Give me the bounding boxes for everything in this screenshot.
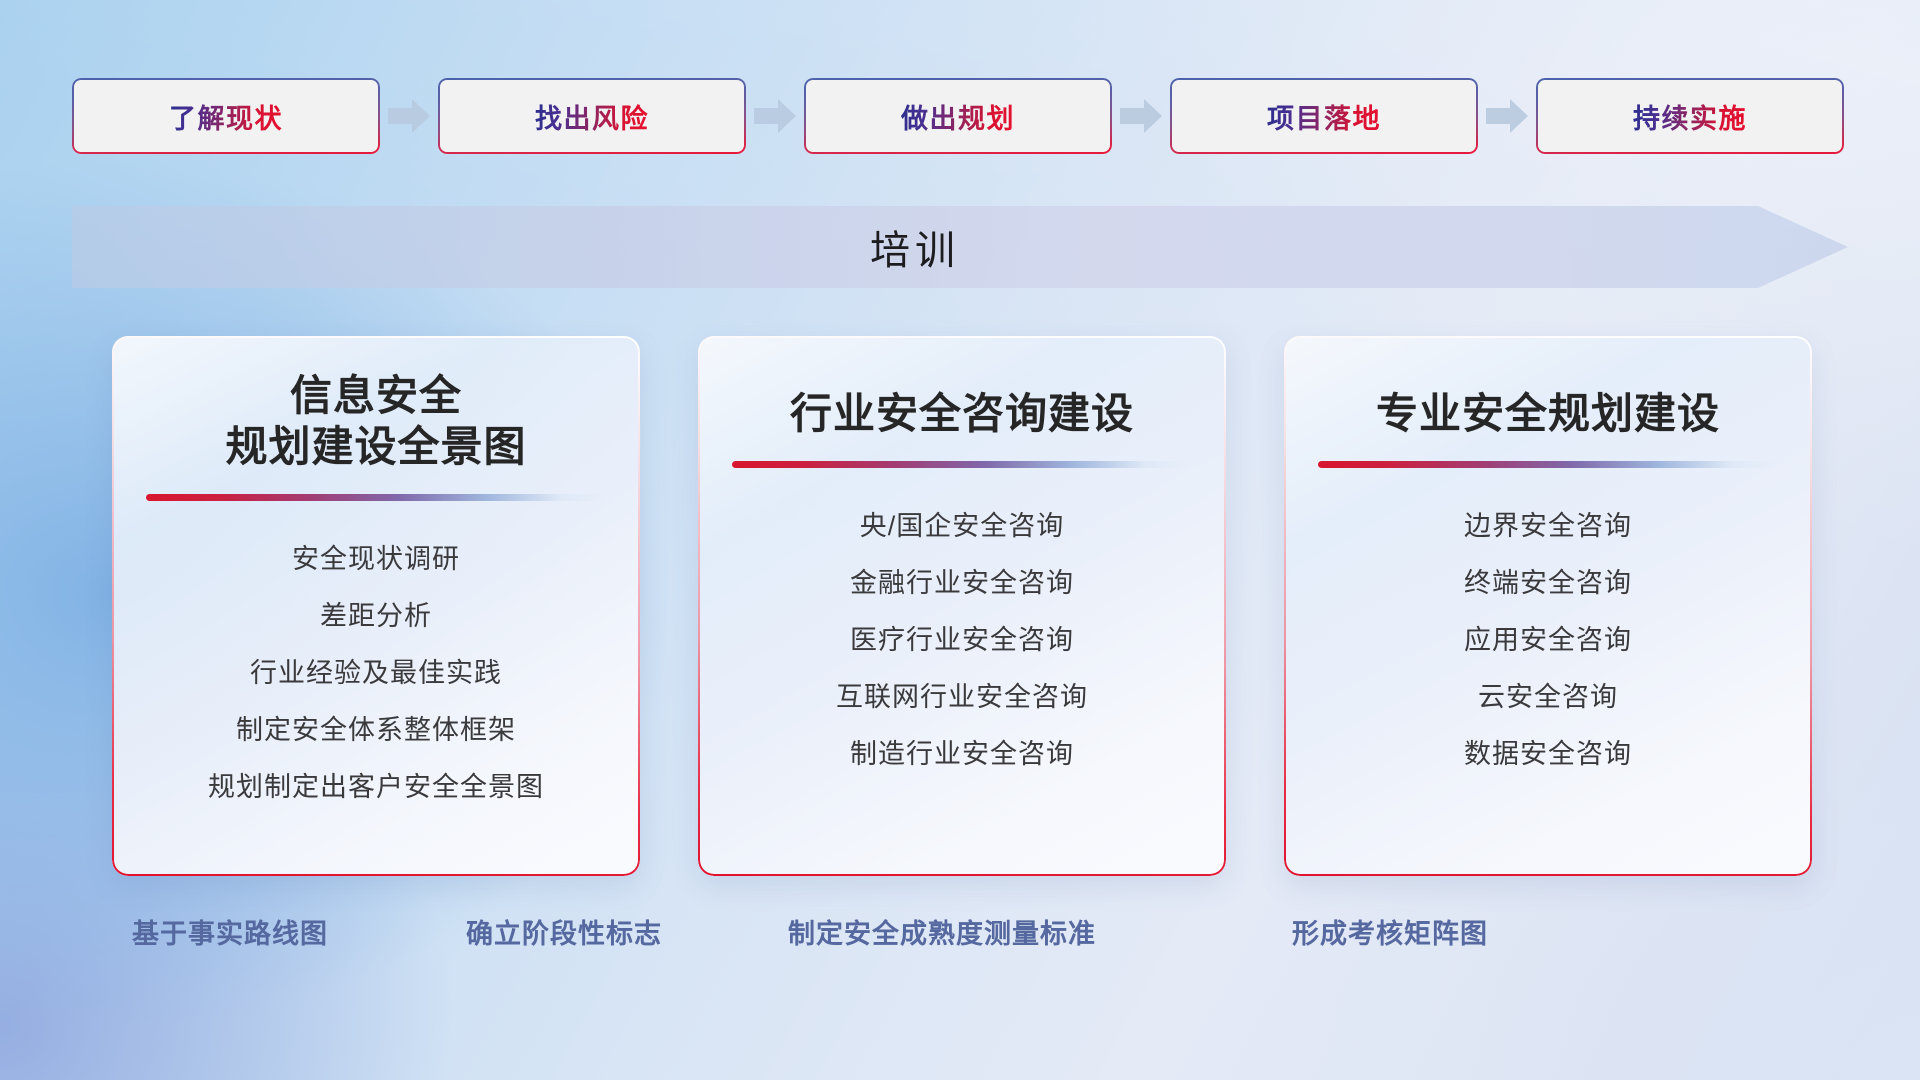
card-list-item: 制定安全体系整体框架 xyxy=(236,708,516,747)
card-title: 行业安全咨询建设 xyxy=(728,370,1196,439)
arrow-right-icon xyxy=(1120,99,1162,133)
card-list-item: 应用安全咨询 xyxy=(1464,618,1632,657)
arrow-right-icon xyxy=(1486,99,1528,133)
card-title: 信息安全 规划建设全景图 xyxy=(142,370,610,472)
card-list-item: 差距分析 xyxy=(320,594,432,633)
card-list-item: 云安全咨询 xyxy=(1478,675,1618,714)
capability-card-2[interactable]: 行业安全咨询建设央/国企安全咨询金融行业安全咨询医疗行业安全咨询互联网行业安全咨… xyxy=(698,336,1226,876)
card-list-item: 边界安全咨询 xyxy=(1464,504,1632,543)
capability-cards: 信息安全 规划建设全景图安全现状调研差距分析行业经验及最佳实践制定安全体系整体框… xyxy=(112,336,1812,876)
card-title: 专业安全规划建设 xyxy=(1314,370,1782,439)
process-step-label: 项目落地 xyxy=(1267,97,1381,136)
card-item-list: 边界安全咨询终端安全咨询应用安全咨询云安全咨询数据安全咨询 xyxy=(1314,504,1782,771)
slide-canvas: 了解现状找出风险做出规划项目落地持续实施 培训 信息安全 规划建设全景图安全现状… xyxy=(0,0,1920,1080)
card-list-item: 央/国企安全咨询 xyxy=(860,504,1065,543)
process-step-3[interactable]: 做出规划 xyxy=(804,78,1112,154)
card-list-item: 互联网行业安全咨询 xyxy=(836,675,1088,714)
process-step-4[interactable]: 项目落地 xyxy=(1170,78,1478,154)
card-accent-divider xyxy=(146,494,606,501)
arrow-right-icon xyxy=(754,99,796,133)
footnote-3: 制定安全成熟度测量标准 xyxy=(788,912,1096,951)
card-list-item: 医疗行业安全咨询 xyxy=(850,618,1074,657)
card-item-list: 央/国企安全咨询金融行业安全咨询医疗行业安全咨询互联网行业安全咨询制造行业安全咨… xyxy=(728,504,1196,771)
training-banner: 培训 xyxy=(72,206,1848,288)
card-accent-divider xyxy=(732,461,1192,468)
footnote-row: 基于事实路线图确立阶段性标志制定安全成熟度测量标准形成考核矩阵图 xyxy=(0,912,1920,968)
process-step-flow: 了解现状找出风险做出规划项目落地持续实施 xyxy=(72,78,1848,154)
process-step-5[interactable]: 持续实施 xyxy=(1536,78,1844,154)
footnote-2: 确立阶段性标志 xyxy=(466,912,662,951)
card-list-item: 金融行业安全咨询 xyxy=(850,561,1074,600)
step-arrow-2 xyxy=(746,96,804,136)
card-item-list: 安全现状调研差距分析行业经验及最佳实践制定安全体系整体框架规划制定出客户安全全景… xyxy=(142,537,610,804)
process-step-1[interactable]: 了解现状 xyxy=(72,78,380,154)
capability-card-1[interactable]: 信息安全 规划建设全景图安全现状调研差距分析行业经验及最佳实践制定安全体系整体框… xyxy=(112,336,640,876)
step-arrow-3 xyxy=(1112,96,1170,136)
process-step-label: 了解现状 xyxy=(169,97,283,136)
process-step-label: 找出风险 xyxy=(535,97,649,136)
card-list-item: 行业经验及最佳实践 xyxy=(250,651,502,690)
arrow-right-icon xyxy=(388,99,430,133)
card-list-item: 制造行业安全咨询 xyxy=(850,732,1074,771)
banner-title: 培训 xyxy=(72,206,1758,288)
capability-card-3[interactable]: 专业安全规划建设边界安全咨询终端安全咨询应用安全咨询云安全咨询数据安全咨询 xyxy=(1284,336,1812,876)
card-list-item: 规划制定出客户安全全景图 xyxy=(208,765,544,804)
process-step-label: 做出规划 xyxy=(901,97,1015,136)
card-accent-divider xyxy=(1318,461,1778,468)
step-arrow-4 xyxy=(1478,96,1536,136)
card-list-item: 安全现状调研 xyxy=(292,537,460,576)
process-step-2[interactable]: 找出风险 xyxy=(438,78,746,154)
footnote-4: 形成考核矩阵图 xyxy=(1292,912,1488,951)
card-list-item: 数据安全咨询 xyxy=(1464,732,1632,771)
card-list-item: 终端安全咨询 xyxy=(1464,561,1632,600)
footnote-1: 基于事实路线图 xyxy=(132,912,328,951)
process-step-label: 持续实施 xyxy=(1633,97,1747,136)
step-arrow-1 xyxy=(380,96,438,136)
